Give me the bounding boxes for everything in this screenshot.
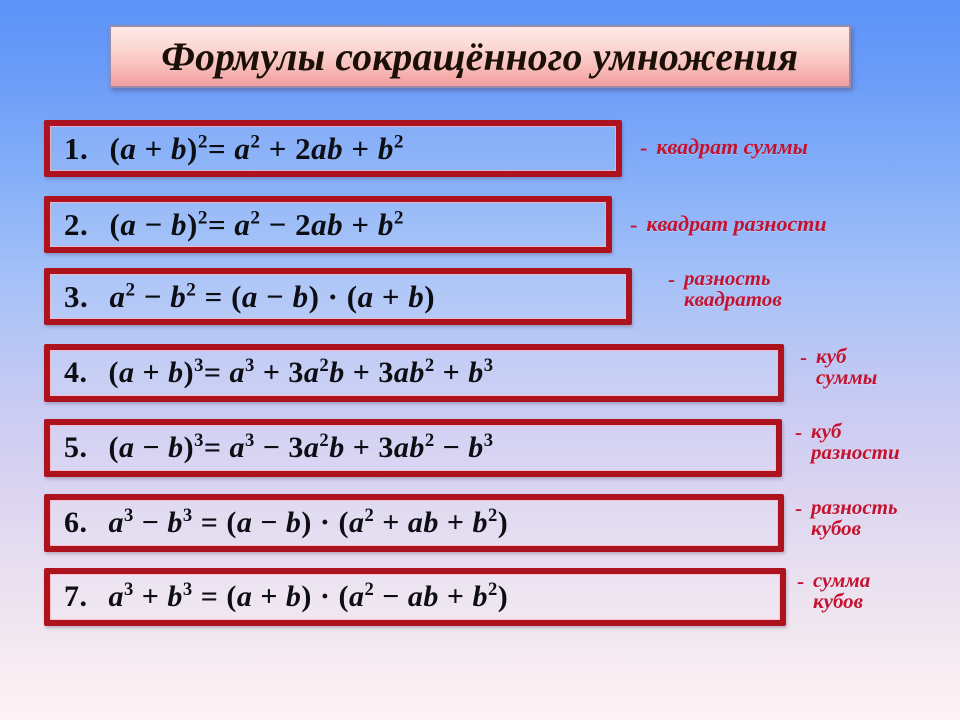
title-banner: Формулы сокращённого умножения (109, 25, 851, 88)
formula-expression-6: 6. a3 − b3 = (a − b) · (a2 + ab + b2) (50, 506, 508, 540)
formula-number-1: 1. (64, 131, 101, 166)
formula-box-4: 4. (a + b)3= a3 + 3a2b + 3ab2 + b3 (44, 344, 784, 402)
label-dash-7: - (797, 570, 813, 592)
formula-label-2: - квадрат разности (630, 213, 827, 236)
formula-label-1: - квадрат суммы (640, 136, 808, 159)
formula-label-5: - кубразности (795, 421, 900, 464)
label-dash-6: - (795, 497, 811, 519)
formula-number-7: 7. (64, 580, 101, 613)
label-text-1: квадрат суммы (656, 136, 808, 158)
formula-label-6: - разностькубов (795, 497, 898, 540)
formula-expression-4: 4. (a + b)3= a3 + 3a2b + 3ab2 + b3 (50, 356, 494, 390)
formula-body-3: a2 − b2 = (a − b) · (a + b) (101, 279, 435, 314)
formula-expression-5: 5. (a − b)3= a3 − 3a2b + 3ab2 − b3 (50, 431, 494, 465)
formula-body-5: (a − b)3= a3 − 3a2b + 3ab2 − b3 (101, 431, 494, 464)
label-text-4: кубсуммы (816, 346, 877, 389)
formula-number-3: 3. (64, 279, 101, 314)
label-text-7: суммакубов (813, 570, 870, 613)
formula-expression-2: 2. (a − b)2= a2 − 2ab + b2 (50, 207, 404, 243)
slide-canvas: Формулы сокращённого умножения 1. (a + b… (0, 0, 960, 720)
label-text-2: квадрат разности (646, 213, 826, 235)
label-text-3: разностьквадратов (684, 268, 782, 311)
formula-box-1: 1. (a + b)2= a2 + 2ab + b2 (44, 120, 622, 177)
label-dash-3: - (668, 268, 684, 290)
formula-box-3: 3. a2 − b2 = (a − b) · (a + b) (44, 268, 632, 325)
page-title: Формулы сокращённого умножения (162, 37, 799, 77)
formula-label-4: - кубсуммы (800, 346, 877, 389)
formula-label-7: - суммакубов (797, 570, 870, 613)
label-text-6: разностькубов (811, 497, 898, 540)
formula-label-3: - разностьквадратов (668, 268, 782, 311)
formula-expression-1: 1. (a + b)2= a2 + 2ab + b2 (50, 131, 404, 167)
formula-body-4: (a + b)3= a3 + 3a2b + 3ab2 + b3 (101, 356, 494, 389)
formula-expression-3: 3. a2 − b2 = (a − b) · (a + b) (50, 279, 435, 315)
formula-box-7: 7. a3 + b3 = (a + b) · (a2 − ab + b2) (44, 568, 786, 626)
formula-body-2: (a − b)2= a2 − 2ab + b2 (101, 207, 404, 242)
label-text-5: кубразности (811, 421, 900, 464)
formula-box-6: 6. a3 − b3 = (a − b) · (a2 + ab + b2) (44, 494, 784, 552)
formula-box-5: 5. (a − b)3= a3 − 3a2b + 3ab2 − b3 (44, 419, 782, 477)
formula-box-2: 2. (a − b)2= a2 − 2ab + b2 (44, 196, 612, 253)
formula-body-7: a3 + b3 = (a + b) · (a2 − ab + b2) (101, 580, 509, 613)
formula-number-6: 6. (64, 506, 101, 539)
formula-number-4: 4. (64, 356, 101, 389)
label-dash-2: - (630, 213, 646, 236)
formula-number-2: 2. (64, 207, 101, 242)
label-dash-4: - (800, 346, 816, 368)
formula-body-1: (a + b)2= a2 + 2ab + b2 (101, 131, 404, 166)
formula-expression-7: 7. a3 + b3 = (a + b) · (a2 − ab + b2) (50, 580, 508, 614)
label-dash-1: - (640, 136, 656, 159)
formula-body-6: a3 − b3 = (a − b) · (a2 + ab + b2) (101, 506, 509, 539)
formula-number-5: 5. (64, 431, 101, 464)
label-dash-5: - (795, 421, 811, 443)
